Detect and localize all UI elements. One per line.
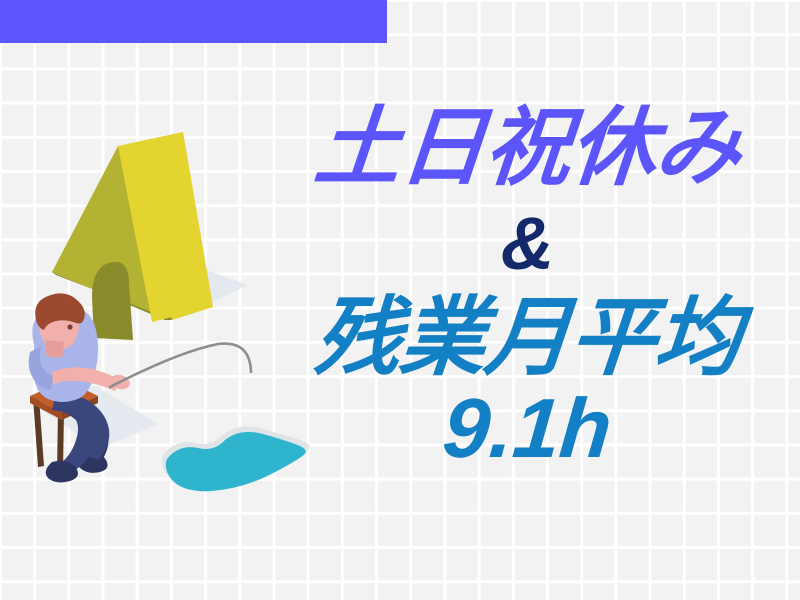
headline-line-2: 残業月平均 xyxy=(251,292,800,384)
banner-canvas: 土日祝休み & 残業月平均 9.1h xyxy=(0,0,800,600)
headline-line-1: 土日祝休み xyxy=(251,100,800,196)
top-accent-bar xyxy=(0,0,387,43)
headline-block: 土日祝休み & 残業月平均 9.1h xyxy=(255,100,800,474)
headline-connector: & xyxy=(255,202,800,286)
headline-line-3: 9.1h xyxy=(251,382,800,474)
